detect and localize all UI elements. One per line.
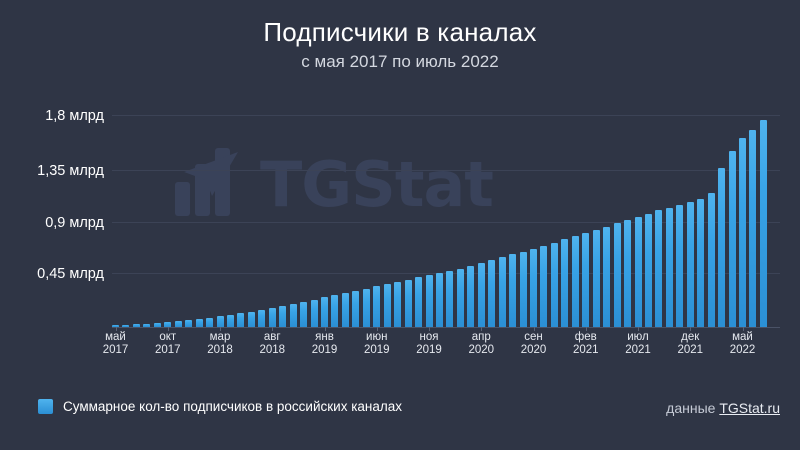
- bar: [436, 273, 443, 327]
- y-tick-label-0_9: 0,9 млрд: [45, 215, 104, 231]
- x-tick-label: мар2018: [190, 331, 250, 357]
- bar: [467, 266, 474, 327]
- x-tick-year: 2021: [556, 344, 616, 357]
- bar: [530, 249, 537, 327]
- x-tick-year: 2019: [347, 344, 407, 357]
- bar: [488, 260, 495, 327]
- x-tick-month: апр: [451, 331, 511, 344]
- bar: [655, 210, 662, 327]
- bar: [331, 295, 338, 327]
- bar: [185, 320, 192, 327]
- bar: [697, 199, 704, 327]
- bar: [133, 324, 140, 327]
- x-tick-month: мар: [190, 331, 250, 344]
- x-tick-year: 2019: [295, 344, 355, 357]
- x-tick-label: апр2020: [451, 331, 511, 357]
- x-tick-year: 2020: [451, 344, 511, 357]
- x-tick-month: сен: [504, 331, 564, 344]
- y-axis: 1,8 млрд 1,35 млрд 0,9 млрд 0,45 млрд: [0, 0, 104, 450]
- x-tick-mark: [481, 327, 482, 331]
- x-tick-mark: [272, 327, 273, 331]
- x-tick-month: июл: [608, 331, 668, 344]
- x-tick-label: ноя2019: [399, 331, 459, 357]
- bar: [749, 130, 756, 327]
- x-tick-month: июн: [347, 331, 407, 344]
- source-prefix: данные: [666, 400, 719, 416]
- bar: [426, 275, 433, 327]
- x-tick-mark: [638, 327, 639, 331]
- x-tick-month: дек: [660, 331, 720, 344]
- bar: [614, 223, 621, 327]
- bar: [258, 310, 265, 327]
- bar: [624, 220, 631, 327]
- y-tick-label-1_8: 1,8 млрд: [45, 108, 104, 124]
- x-tick-year: 2022: [713, 344, 773, 357]
- bar: [206, 318, 213, 327]
- x-tick-label: авг2018: [242, 331, 302, 357]
- x-tick-mark: [325, 327, 326, 331]
- bar: [499, 257, 506, 327]
- x-tick-month: ноя: [399, 331, 459, 344]
- bar: [279, 306, 286, 327]
- bar: [311, 300, 318, 327]
- bar: [446, 271, 453, 327]
- chart-page: Подписчики в каналах с мая 2017 по июль …: [0, 0, 800, 450]
- bar: [217, 316, 224, 327]
- bar: [415, 277, 422, 327]
- bar: [478, 263, 485, 327]
- x-tick-label: июл2021: [608, 331, 668, 357]
- bar: [143, 324, 150, 327]
- x-tick-mark: [743, 327, 744, 331]
- x-tick-label: янв2019: [295, 331, 355, 357]
- x-tick-mark: [586, 327, 587, 331]
- bar: [373, 286, 380, 327]
- bar: [237, 313, 244, 327]
- bar: [363, 289, 370, 327]
- x-tick-label: окт2017: [138, 331, 198, 357]
- source-link[interactable]: TGStat.ru: [719, 400, 780, 416]
- legend-color-swatch: [38, 399, 53, 414]
- bar: [290, 304, 297, 327]
- bar: [175, 321, 182, 327]
- x-tick-year: 2018: [190, 344, 250, 357]
- legend-label: Суммарное кол-во подписчиков в российски…: [63, 399, 402, 414]
- x-tick-month: май: [86, 331, 146, 344]
- legend[interactable]: Суммарное кол-во подписчиков в российски…: [38, 399, 402, 414]
- x-tick-label: сен2020: [504, 331, 564, 357]
- x-tick-mark: [377, 327, 378, 331]
- bar: [645, 214, 652, 327]
- bar: [520, 252, 527, 327]
- bar: [248, 312, 255, 327]
- bar: [739, 138, 746, 327]
- x-tick-mark: [220, 327, 221, 331]
- bar: [635, 217, 642, 327]
- bar: [384, 284, 391, 327]
- axis-baseline: [112, 327, 780, 328]
- bar: [718, 168, 725, 327]
- bar: [227, 315, 234, 327]
- x-tick-mark: [168, 327, 169, 331]
- bar: [729, 151, 736, 327]
- x-tick-year: 2018: [242, 344, 302, 357]
- bar: [582, 233, 589, 327]
- bar: [405, 280, 412, 327]
- y-tick-label-0_45: 0,45 млрд: [37, 266, 104, 282]
- x-tick-year: 2017: [86, 344, 146, 357]
- bar: [509, 254, 516, 327]
- x-tick-month: авг: [242, 331, 302, 344]
- bar: [154, 323, 161, 327]
- x-tick-year: 2021: [660, 344, 720, 357]
- bar: [561, 239, 568, 327]
- chart-footer: Суммарное кол-во подписчиков в российски…: [0, 396, 800, 426]
- bar: [676, 205, 683, 327]
- x-tick-label: май2017: [86, 331, 146, 357]
- chart-header: Подписчики в каналах с мая 2017 по июль …: [0, 16, 800, 74]
- bar: [352, 291, 359, 327]
- bar-series: [112, 105, 780, 327]
- x-tick-month: фев: [556, 331, 616, 344]
- bar: [394, 282, 401, 327]
- x-tick-label: дек2021: [660, 331, 720, 357]
- bar: [300, 302, 307, 327]
- bar: [540, 246, 547, 327]
- chart-subtitle: с мая 2017 по июль 2022: [0, 50, 800, 74]
- chart-title: Подписчики в каналах: [0, 16, 800, 48]
- bar: [196, 319, 203, 327]
- x-axis: май2017окт2017мар2018авг2018янв2019июн20…: [0, 331, 800, 361]
- x-tick-year: 2021: [608, 344, 668, 357]
- bar: [551, 243, 558, 327]
- x-tick-month: янв: [295, 331, 355, 344]
- bar: [457, 269, 464, 327]
- bar: [572, 236, 579, 327]
- bar: [122, 325, 129, 327]
- x-tick-label: май2022: [713, 331, 773, 357]
- bar: [269, 308, 276, 327]
- x-tick-mark: [534, 327, 535, 331]
- x-tick-month: окт: [138, 331, 198, 344]
- x-tick-year: 2019: [399, 344, 459, 357]
- x-tick-mark: [116, 327, 117, 331]
- bar: [760, 120, 767, 327]
- x-tick-mark: [690, 327, 691, 331]
- bar: [687, 202, 694, 327]
- x-tick-month: май: [713, 331, 773, 344]
- bar: [321, 297, 328, 327]
- bar: [666, 208, 673, 327]
- x-tick-mark: [429, 327, 430, 331]
- bar: [603, 227, 610, 327]
- x-tick-year: 2017: [138, 344, 198, 357]
- bar: [708, 193, 715, 327]
- x-tick-year: 2020: [504, 344, 564, 357]
- x-tick-label: фев2021: [556, 331, 616, 357]
- y-tick-label-1_35: 1,35 млрд: [37, 163, 104, 179]
- bar: [593, 230, 600, 327]
- x-tick-label: июн2019: [347, 331, 407, 357]
- source-attribution: данные TGStat.ru: [666, 400, 780, 416]
- bar: [342, 293, 349, 327]
